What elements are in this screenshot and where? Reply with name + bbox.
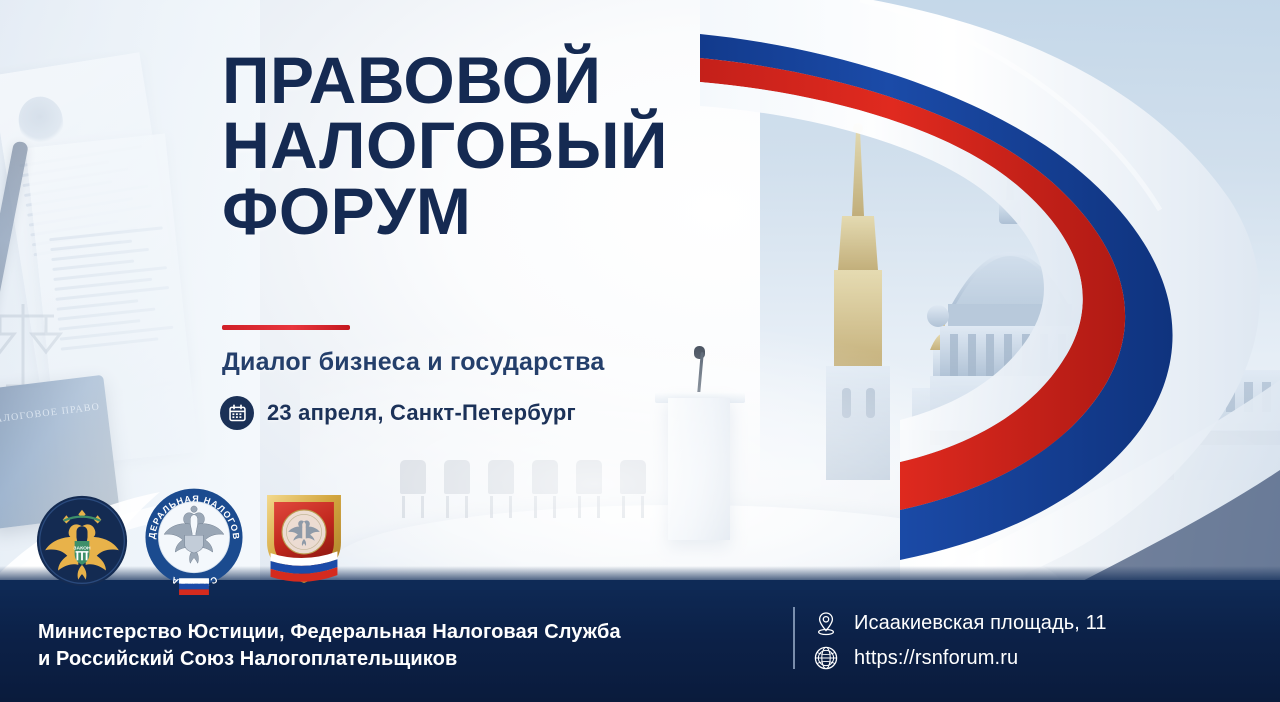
contact-divider	[793, 607, 795, 669]
fts-tricolor-ribbon	[179, 578, 209, 595]
ministry-of-justice-emblem: ЗАКОН	[36, 495, 128, 587]
organizers-line-2: и Российский Союз Налогоплательщиков	[38, 646, 621, 674]
contact-block: Исаакиевская площадь, 11 https://rsnforu…	[812, 609, 1107, 672]
calendar-icon	[220, 396, 254, 430]
poster-root: НАЛОГОВОЕ ПРАВО	[0, 0, 1280, 702]
accent-rule	[222, 325, 350, 330]
event-date: 23 апреля, Санкт-Петербург	[267, 400, 576, 426]
map-pin-icon	[812, 609, 840, 637]
emblem-group: ЗАКОН ФЕДЕРАЛЬНАЯ НАЛОГОВАЯ СЛУЖБА	[36, 483, 348, 587]
subtitle: Диалог бизнеса и государства	[222, 348, 605, 377]
organizers-text: Министерство Юстиции, Федеральная Налого…	[38, 619, 621, 674]
address-row: Исаакиевская площадь, 11	[812, 609, 1107, 637]
title-line-3: ФОРУМ	[222, 179, 862, 244]
title-line-2: НАЛОГОВЫЙ	[222, 113, 862, 178]
page-title: ПРАВОВОЙ НАЛОГОВЫЙ ФОРУМ	[222, 48, 862, 244]
title-line-1: ПРАВОВОЙ	[222, 48, 862, 113]
globe-icon	[812, 644, 840, 672]
moj-center-label: ЗАКОН	[73, 545, 91, 551]
organizers-line-1: Министерство Юстиции, Федеральная Налого…	[38, 619, 621, 647]
federal-tax-service-emblem: ФЕДЕРАЛЬНАЯ НАЛОГОВАЯ СЛУЖБА	[138, 483, 250, 595]
address-text: Исаакиевская площадь, 11	[854, 612, 1107, 635]
website-text[interactable]: https://rsnforum.ru	[854, 647, 1018, 670]
date-row: 23 апреля, Санкт-Петербург	[220, 396, 576, 430]
russian-union-of-taxpayers-emblem	[260, 489, 348, 589]
website-row[interactable]: https://rsnforum.ru	[812, 644, 1107, 672]
